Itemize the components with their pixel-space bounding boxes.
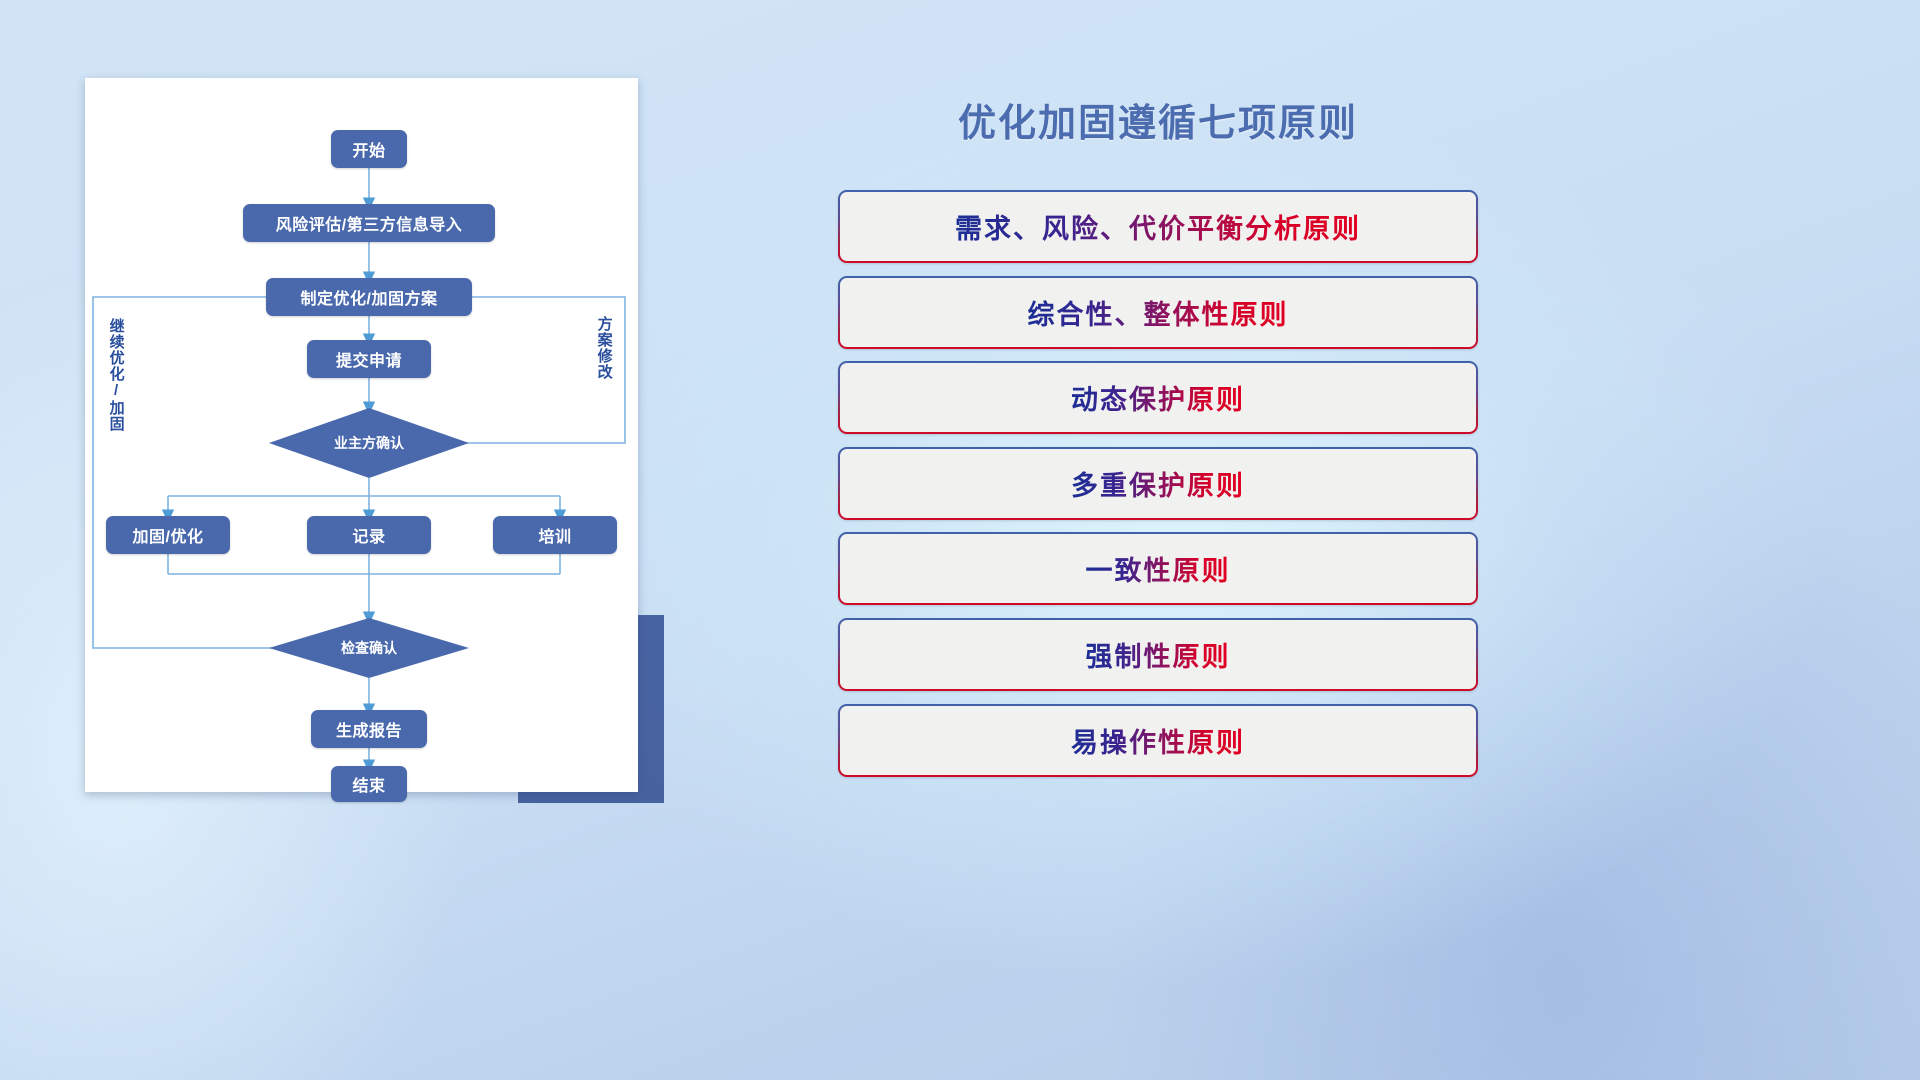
flow-node-label: 检查确认 [341,638,397,658]
flow-node-generate-report[interactable]: 生成报告 [311,710,427,748]
flow-node-owner-confirm[interactable]: 业主方确认 [269,408,469,478]
flow-node-label: 提交申请 [336,347,402,371]
principle-item-7[interactable]: 易操作性原则 [838,704,1478,777]
flow-node-label: 开始 [352,137,385,161]
flow-node-risk-assessment[interactable]: 风险评估/第三方信息导入 [243,204,495,242]
flow-node-label: 风险评估/第三方信息导入 [276,211,462,235]
flow-node-end[interactable]: 结束 [331,766,407,802]
principle-item-6[interactable]: 强制性原则 [838,618,1478,691]
flow-node-label: 记录 [352,523,385,547]
principle-item-1[interactable]: 需求、风险、代价平衡分析原则 [838,190,1478,263]
flow-edge-label-continue-optimize: 继续优化/加固 [108,318,124,448]
principle-label: 综合性、整体性原则 [1028,293,1289,332]
principles-list: 需求、风险、代价平衡分析原则 综合性、整体性原则 动态保护原则 多重保护原则 一… [838,190,1478,789]
flow-node-label: 培训 [538,523,571,547]
principle-item-5[interactable]: 一致性原则 [838,532,1478,605]
principle-label: 需求、风险、代价平衡分析原则 [955,207,1361,246]
principle-label: 一致性原则 [1086,549,1231,588]
principle-item-2[interactable]: 综合性、整体性原则 [838,276,1478,349]
principle-label: 强制性原则 [1086,635,1231,674]
principle-item-3[interactable]: 动态保护原则 [838,361,1478,434]
flow-node-label: 业主方确认 [334,433,404,453]
flow-node-label: 生成报告 [336,717,402,741]
page-title: 优化加固遵循七项原则 [838,92,1478,147]
principle-label: 动态保护原则 [1071,378,1245,417]
flow-node-record[interactable]: 记录 [307,516,431,554]
flow-edge-label-plan-revision: 方案修改 [596,316,612,412]
flow-node-submit-application[interactable]: 提交申请 [307,340,431,378]
flowchart-card: 开始 风险评估/第三方信息导入 制定优化/加固方案 提交申请 业主方确认 加固/… [85,78,638,792]
principle-item-4[interactable]: 多重保护原则 [838,447,1478,520]
flow-node-reinforce-optimize[interactable]: 加固/优化 [106,516,230,554]
flow-node-training[interactable]: 培训 [493,516,617,554]
flow-node-label: 制定优化/加固方案 [301,285,438,309]
flow-node-check-confirm[interactable]: 检查确认 [269,618,469,678]
flow-node-make-plan[interactable]: 制定优化/加固方案 [266,278,472,316]
flow-node-label: 加固/优化 [133,523,204,547]
principle-label: 多重保护原则 [1071,464,1245,503]
flow-node-start[interactable]: 开始 [331,130,407,168]
flow-node-label: 结束 [352,772,385,796]
principle-label: 易操作性原则 [1071,721,1245,760]
